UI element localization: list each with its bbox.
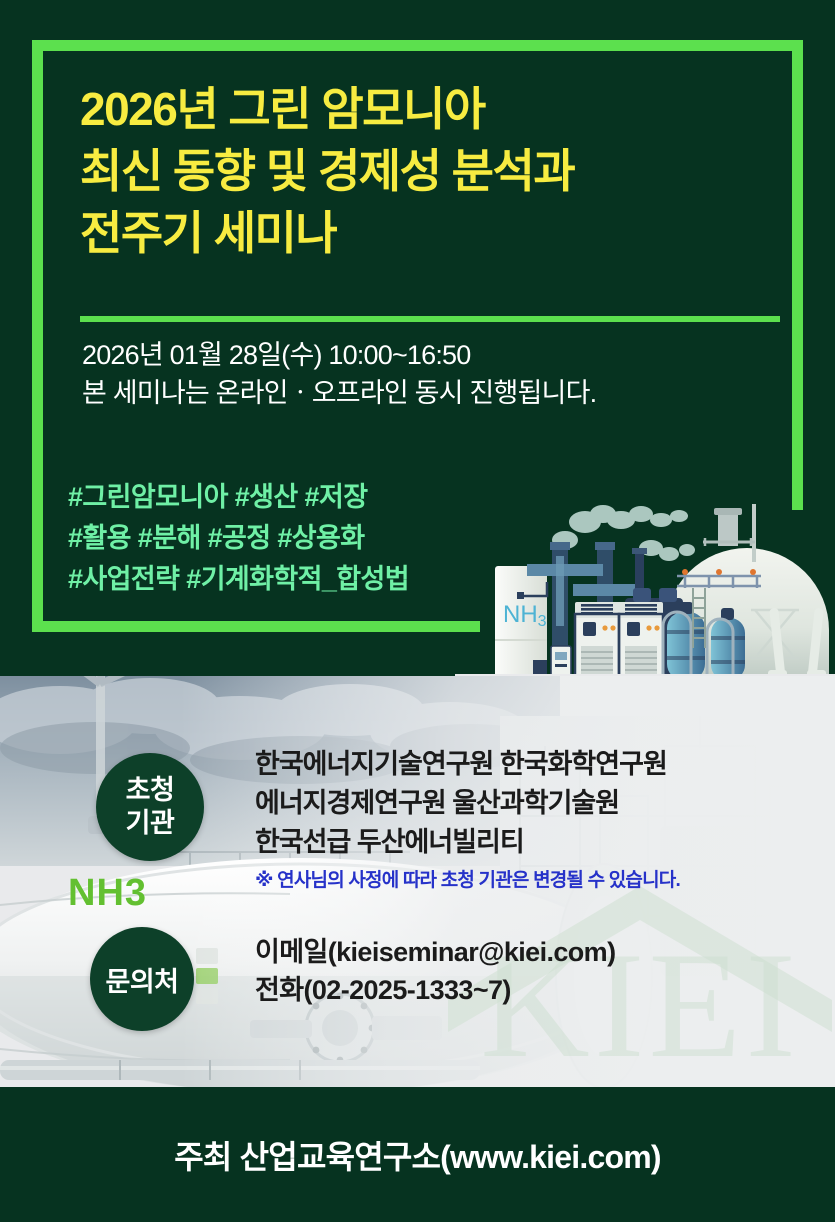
invited-organizations-list: 한국에너지기술연구원 한국화학연구원 에너지경제연구원 울산과학기술원 한국선급…	[255, 745, 815, 892]
invited-badge-line-1: 초청	[126, 774, 175, 807]
footer-bar: 주최 산업교육연구소(www.kiei.com)	[0, 1087, 835, 1222]
organization-line-1: 한국에너지기술연구원 한국화학연구원	[255, 745, 815, 784]
event-date-time: 2026년 01월 28일(수) 10:00~16:50	[82, 336, 782, 374]
contact-email[interactable]: 이메일(kieiseminar@kiei.com)	[255, 933, 815, 971]
frame-border-right	[792, 40, 803, 510]
title-divider	[80, 316, 780, 322]
title-line-3: 전주기 세미나	[80, 202, 770, 264]
title-line-2: 최신 동향 및 경제성 분석과	[80, 140, 770, 202]
footer-host-text[interactable]: 주최 산업교육연구소(www.kiei.com)	[174, 1132, 660, 1178]
event-mode: 본 세미나는 온라인ㆍ오프라인 동시 진행됩니다.	[82, 374, 782, 412]
frame-border-top	[32, 40, 803, 51]
invited-badge-line-2: 기관	[126, 807, 175, 840]
organization-line-2: 에너지경제연구원 울산과학기술원	[255, 784, 815, 823]
organization-line-3: 한국선급 두산에너빌리티	[255, 823, 815, 862]
frame-border-bottom	[32, 621, 480, 632]
title-line-1: 2026년 그린 암모니아	[80, 78, 770, 140]
event-meta: 2026년 01월 28일(수) 10:00~16:50 본 세미나는 온라인ㆍ…	[82, 336, 782, 412]
page-title: 2026년 그린 암모니아 최신 동향 및 경제성 분석과 전주기 세미나	[80, 78, 770, 264]
top-panel: 2026년 그린 암모니아 최신 동향 및 경제성 분석과 전주기 세미나 20…	[0, 0, 835, 676]
nh3-photo-label: NH3	[68, 872, 147, 915]
seminar-poster: 2026년 그린 암모니아 최신 동향 및 경제성 분석과 전주기 세미나 20…	[0, 0, 835, 1222]
contact-badge: 문의처	[90, 927, 194, 1031]
contact-details: 이메일(kieiseminar@kiei.com) 전화(02-2025-133…	[255, 933, 815, 1009]
invited-organizations-badge: 초청 기관	[96, 753, 204, 861]
invited-organizations-note: ※ 연사님의 사정에 따라 초청 기관은 변경될 수 있습니다.	[255, 865, 815, 892]
contact-badge-label: 문의처	[105, 960, 178, 999]
frame-border-left	[32, 40, 43, 632]
contact-phone[interactable]: 전화(02-2025-1333~7)	[255, 971, 815, 1009]
ammonia-plant-illustration-icon: NH3	[455, 490, 835, 676]
